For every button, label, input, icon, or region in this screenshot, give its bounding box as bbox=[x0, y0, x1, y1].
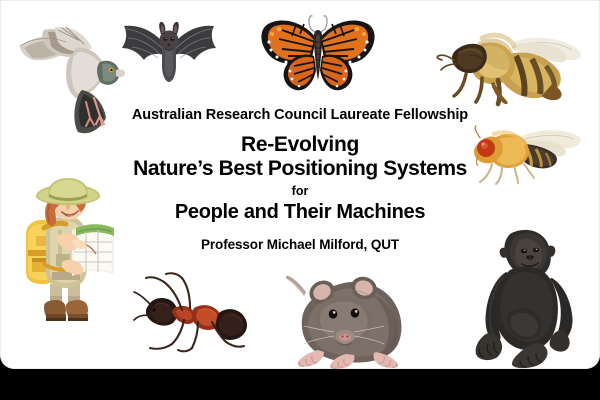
bat-image bbox=[118, 14, 220, 98]
monarch-butterfly-image bbox=[252, 8, 384, 104]
title-connector: for bbox=[60, 183, 540, 199]
title-line-2: Nature’s Best Positioning Systems bbox=[60, 157, 540, 181]
title-line-1: Re-Evolving bbox=[60, 133, 540, 157]
honeybee-image bbox=[436, 12, 588, 110]
rat-image bbox=[284, 268, 416, 369]
slide-text-block: Australian Research Council Laureate Fel… bbox=[60, 106, 540, 252]
slide-canvas: Australian Research Council Laureate Fel… bbox=[0, 0, 600, 369]
bottom-black-bar bbox=[0, 369, 600, 400]
author-line: Professor Michael Milford, QUT bbox=[60, 237, 540, 252]
ant-image bbox=[132, 272, 248, 352]
title-line-3: People and Their Machines bbox=[60, 201, 540, 224]
slide-root: Australian Research Council Laureate Fel… bbox=[0, 0, 600, 400]
fellowship-line: Australian Research Council Laureate Fel… bbox=[60, 106, 540, 124]
